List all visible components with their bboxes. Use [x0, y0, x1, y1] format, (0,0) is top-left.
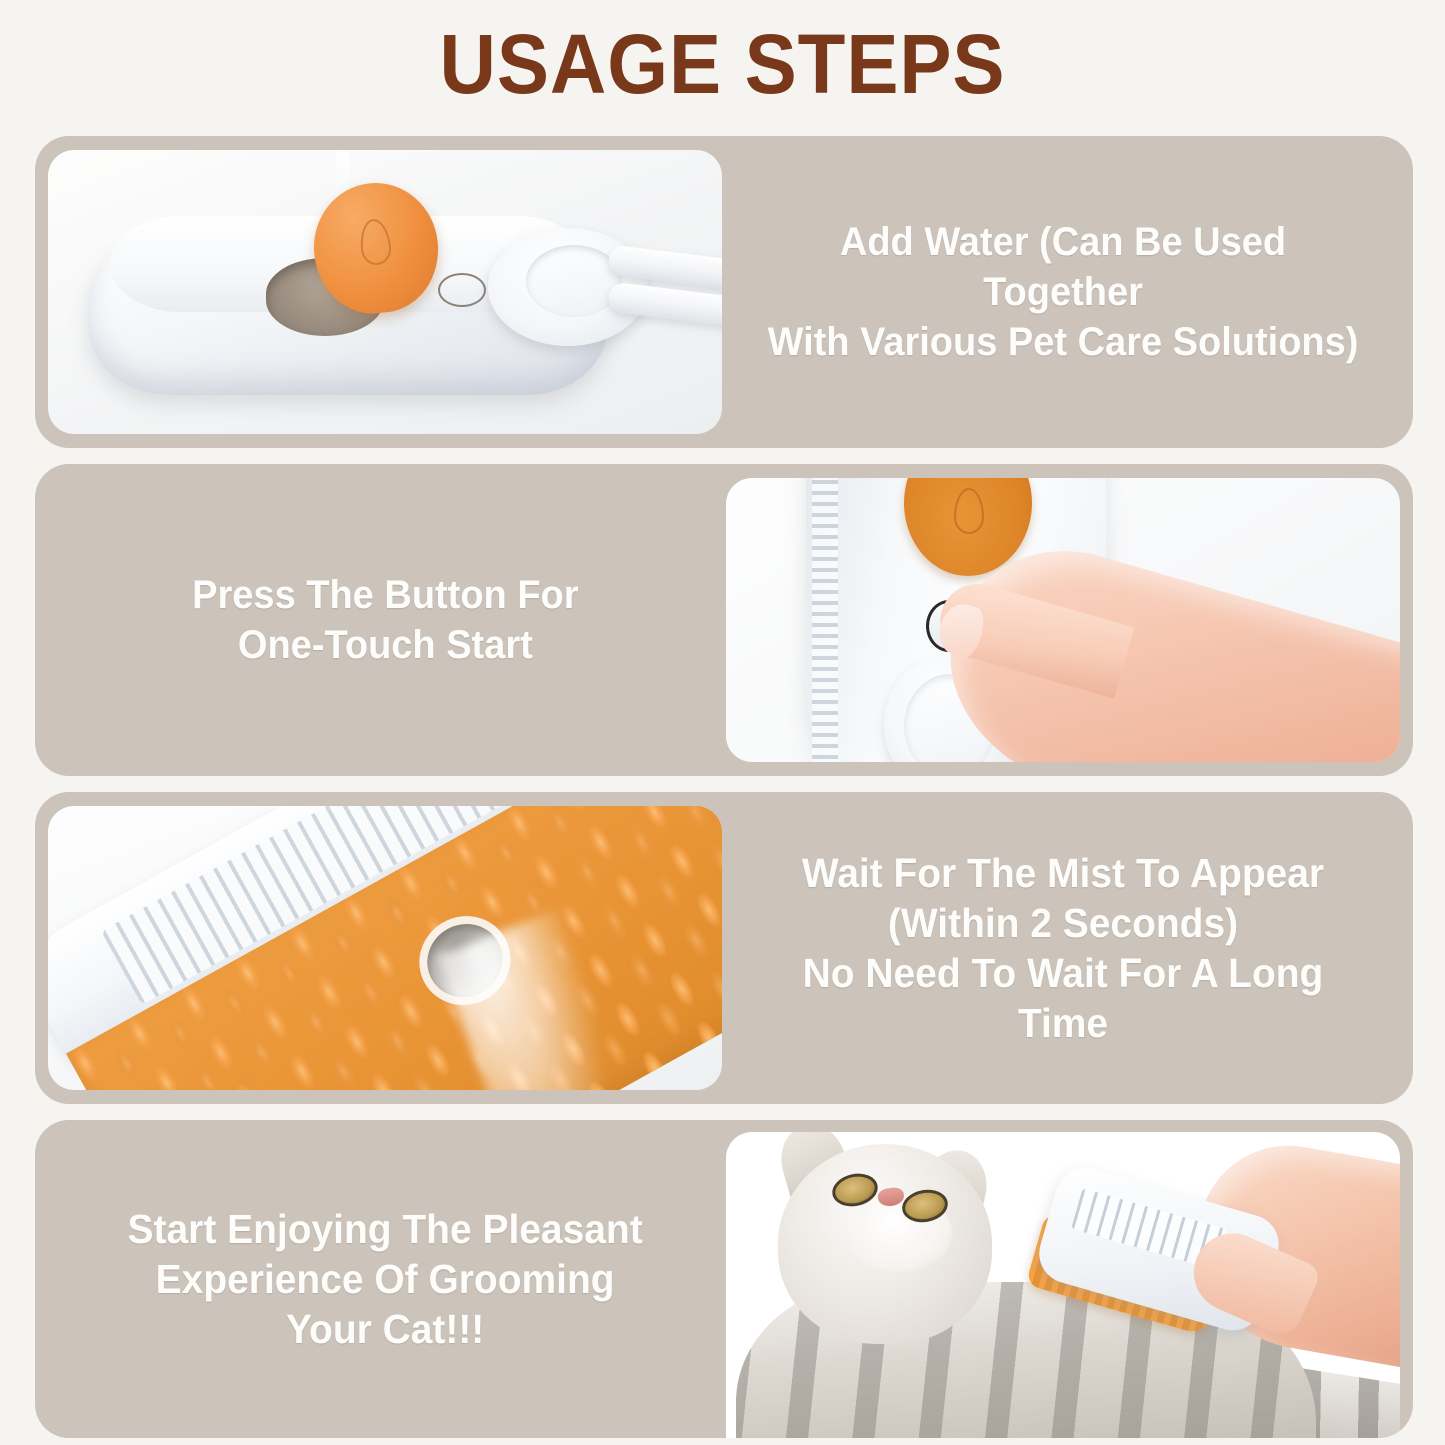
step-3-caption-line-3: No Need To Wait For A Long Time — [803, 950, 1324, 1046]
step-2-caption: Press The Button For One-Touch Start — [47, 464, 723, 776]
brush-handle-knob-inner — [526, 245, 622, 317]
step-row-2: Press The Button For One-Touch Start — [35, 464, 1413, 776]
page-title: USAGE STEPS — [51, 16, 1395, 112]
step-4-caption-line-3: Your Cat!!! — [286, 1306, 484, 1352]
step-4-caption-line-2: Experience Of Grooming — [156, 1256, 615, 1302]
step-2-caption-line-1: Press The Button For — [192, 573, 578, 617]
step-3-caption-line-2: (Within 2 Seconds) — [888, 900, 1238, 946]
power-button-ring — [438, 273, 486, 307]
step-3-caption-line-1: Wait For The Mist To Appear — [802, 850, 1324, 896]
step-row-1: Add Water (Can Be Used Together With Var… — [35, 136, 1413, 448]
step-1-caption: Add Water (Can Be Used Together With Var… — [725, 136, 1401, 448]
step-4-caption-line-1: Start Enjoying The Pleasant — [127, 1206, 642, 1252]
brush-head-assembly — [48, 806, 722, 1090]
step-row-3: Wait For The Mist To Appear (Within 2 Se… — [35, 792, 1413, 1104]
step-4-photo — [726, 1132, 1400, 1438]
step-row-4: Start Enjoying The Pleasant Experience O… — [35, 1120, 1413, 1438]
step-2-caption-line-2: One-Touch Start — [238, 623, 533, 667]
step-4-caption: Start Enjoying The Pleasant Experience O… — [47, 1120, 723, 1438]
step-1-photo — [48, 150, 722, 434]
step-3-caption: Wait For The Mist To Appear (Within 2 Se… — [725, 792, 1401, 1104]
infographic-page: USAGE STEPS Add Water (Can Be Used Toget… — [0, 0, 1445, 1445]
step-3-photo — [48, 806, 722, 1090]
step-1-caption-line-1: Add Water (Can Be Used Together — [840, 220, 1286, 314]
brush-side-ridges — [812, 478, 838, 762]
step-1-caption-line-2: With Various Pet Care Solutions) — [768, 320, 1359, 364]
step-2-photo — [726, 478, 1400, 762]
